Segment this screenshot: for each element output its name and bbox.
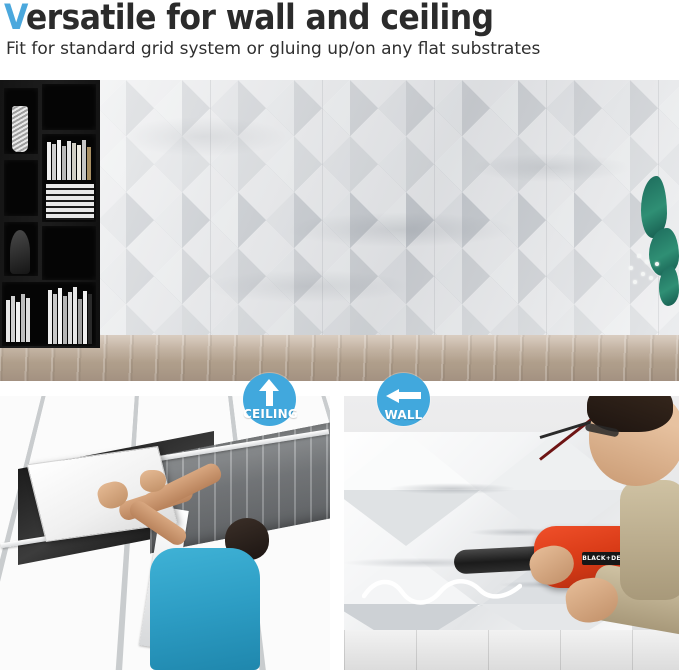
wall-diamond-facet bbox=[378, 136, 434, 192]
wall-diamond-facet bbox=[546, 80, 602, 136]
wall-diamond-facet bbox=[602, 80, 658, 136]
wall-diamond-facet bbox=[434, 192, 490, 248]
wall-diamond-facet bbox=[434, 80, 490, 136]
badge-ceiling-label: CEILING bbox=[243, 407, 296, 421]
header: Versatile for wall and ceiling Fit for s… bbox=[0, 0, 679, 80]
left-arrow-icon bbox=[386, 389, 399, 403]
shelf-books-bottom-left bbox=[6, 292, 30, 342]
wall-diamond-facet bbox=[98, 136, 154, 192]
wall-diamond-facet bbox=[266, 248, 322, 304]
wall-3d-panel-surface bbox=[98, 80, 679, 338]
page-title-first-letter: V bbox=[4, 0, 26, 38]
wall-diamond-facet bbox=[322, 248, 378, 304]
person-upper-arm bbox=[620, 480, 679, 600]
left-arrow-shaft bbox=[399, 392, 421, 399]
shelf-books-bottom-right bbox=[48, 286, 92, 344]
wall-diamond-facet bbox=[154, 136, 210, 192]
wall-diamond-facet bbox=[154, 248, 210, 304]
wall-diamond-facet bbox=[154, 192, 210, 248]
wall-diamond-facet bbox=[266, 192, 322, 248]
wall-diamond-facet bbox=[434, 136, 490, 192]
badge-wall-label: WALL bbox=[377, 408, 430, 422]
wall-diamond-facet bbox=[266, 80, 322, 136]
hero-image-room-scene bbox=[0, 80, 679, 381]
wall-diamond-facet bbox=[546, 248, 602, 304]
wall-diamond-facet bbox=[266, 136, 322, 192]
wall-diamond-facet bbox=[490, 192, 546, 248]
photo-standard-grid-system: Standard grid system bbox=[0, 396, 330, 670]
wall-diamond-facet bbox=[378, 80, 434, 136]
up-arrow-shaft bbox=[266, 390, 273, 406]
wall-diamond-facet bbox=[546, 136, 602, 192]
wall-diamond-facet bbox=[322, 192, 378, 248]
wall-diamond-facet bbox=[378, 192, 434, 248]
photo-gluing-up-on: BLACK+DECKER Gluing up/on bbox=[344, 396, 679, 670]
counter-surface bbox=[344, 630, 679, 670]
wall-diamond-facet bbox=[434, 248, 490, 304]
wall-diamond-facet bbox=[154, 80, 210, 136]
wall-diamond-facet bbox=[210, 136, 266, 192]
wall-diamond-facet bbox=[210, 192, 266, 248]
shelf-cubby bbox=[4, 160, 38, 216]
page-title-rest: ersatile for wall and ceiling bbox=[26, 0, 494, 38]
wall-diamond-facet bbox=[98, 192, 154, 248]
shelf-cubby bbox=[42, 84, 96, 130]
wall-diamond-facet bbox=[490, 248, 546, 304]
worker-hand-right bbox=[140, 470, 166, 492]
worker-torso-teal-shirt bbox=[150, 548, 260, 670]
shelf-cubby bbox=[42, 226, 96, 280]
wood-floor bbox=[0, 335, 679, 381]
wall-diamond-facet bbox=[378, 248, 434, 304]
wall-diamond-facet bbox=[210, 248, 266, 304]
adhesive-bead bbox=[362, 574, 522, 608]
wall-diamond-facet bbox=[490, 80, 546, 136]
shelf-books-vertical bbox=[47, 140, 91, 180]
page-subtitle: Fit for standard grid system or gluing u… bbox=[6, 38, 540, 60]
wall-diamond-facet bbox=[210, 80, 266, 136]
badge-ceiling: CEILING bbox=[243, 373, 296, 426]
page-title: Versatile for wall and ceiling bbox=[4, 0, 493, 38]
wall-diamond-facet bbox=[546, 192, 602, 248]
shelf-vase bbox=[12, 106, 28, 152]
shelf-bottle bbox=[10, 230, 30, 274]
wall-diamond-facet bbox=[322, 80, 378, 136]
wall-diamond-facet bbox=[658, 80, 679, 136]
wall-diamond-facet bbox=[98, 248, 154, 304]
green-plant-decor bbox=[615, 176, 679, 322]
badge-wall: WALL bbox=[377, 373, 430, 426]
wall-diamond-facet bbox=[490, 136, 546, 192]
wall-diamond-facet bbox=[98, 80, 154, 136]
black-bookshelf bbox=[0, 80, 100, 348]
shelf-books-stacked bbox=[46, 184, 94, 220]
wall-diamond-facet bbox=[322, 136, 378, 192]
